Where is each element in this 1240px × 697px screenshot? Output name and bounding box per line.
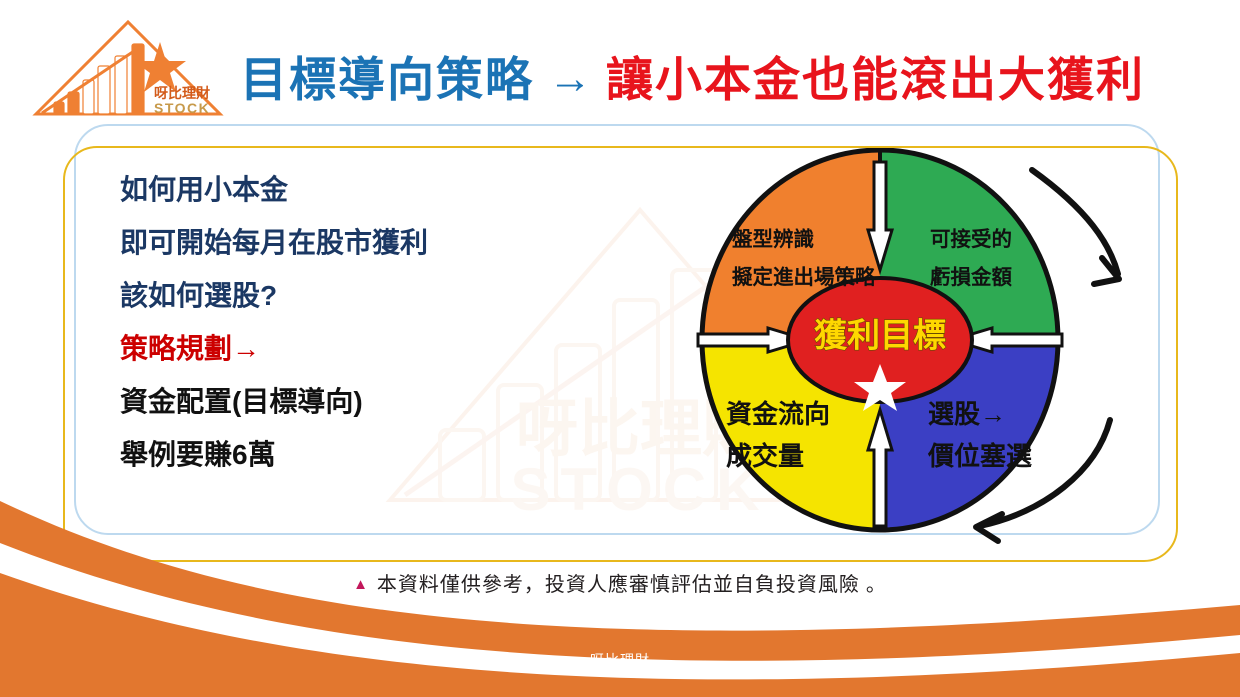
list-item: 該如何選股? (120, 282, 550, 310)
wheel-label-bottom-left-line2: 成交量 (726, 441, 804, 471)
list-item: 策略規劃→ (120, 335, 550, 363)
slide-root: 呀比理財 STOCK 呀比理財 STOCK 目標導向策略 → 讓小本金也能滾出大… (0, 0, 1240, 697)
wheel-center-label: 獲利目標 (814, 317, 946, 354)
footer-brand: 呀比理財 (0, 650, 1240, 670)
triangle-bullet-icon: ▲ (353, 577, 369, 593)
list-item: 即可開始每月在股市獲利 (120, 229, 550, 257)
wheel-label-top-right-line1: 可接受的 (930, 227, 1012, 251)
wheel-label-bottom-left-line1: 資金流向 (726, 399, 830, 429)
bullet-list: 如何用小本金 即可開始每月在股市獲利 該如何選股? 策略規劃→ 資金配置(目標導… (120, 176, 550, 494)
wheel-label-bottom-right-line2: 價位塞選 (927, 441, 1032, 471)
list-item: 資金配置(目標導向) (120, 388, 550, 416)
wheel-label-top-left-line1: 盤型辨識 (732, 227, 814, 251)
brand-logo: 呀比理財 STOCK (28, 14, 228, 124)
list-item: 如何用小本金 (120, 176, 550, 204)
slide-title: 目標導向策略 → 讓小本金也能滾出大獲利 (240, 44, 1145, 114)
disclaimer: ▲本資料僅供參考，投資人應審慎評估並自負投資風險 。 (0, 568, 1240, 597)
strategy-wheel-diagram: 獲利目標 盤型辨識 擬定進出場策略 可接受的 虧損金額 資金流向 成交量 選股→… (640, 148, 1140, 553)
wheel-label-top-right-line2: 虧損金額 (930, 265, 1012, 289)
title-arrow-icon: → (548, 57, 592, 101)
disclaimer-text: 本資料僅供參考，投資人應審慎評估並自負投資風險 。 (377, 574, 887, 596)
title-primary: 目標導向策略 (240, 56, 534, 103)
wheel-label-bottom-right-line1: 選股→ (928, 399, 1006, 429)
list-item: 舉例要賺6萬 (120, 441, 550, 469)
wheel-label-top-left-line2: 擬定進出場策略 (732, 265, 876, 289)
title-secondary: 讓小本金也能滾出大獲利 (606, 56, 1145, 103)
logo-brand-en: STOCK (154, 100, 210, 116)
logo-brand-cn: 呀比理財 (154, 85, 210, 101)
